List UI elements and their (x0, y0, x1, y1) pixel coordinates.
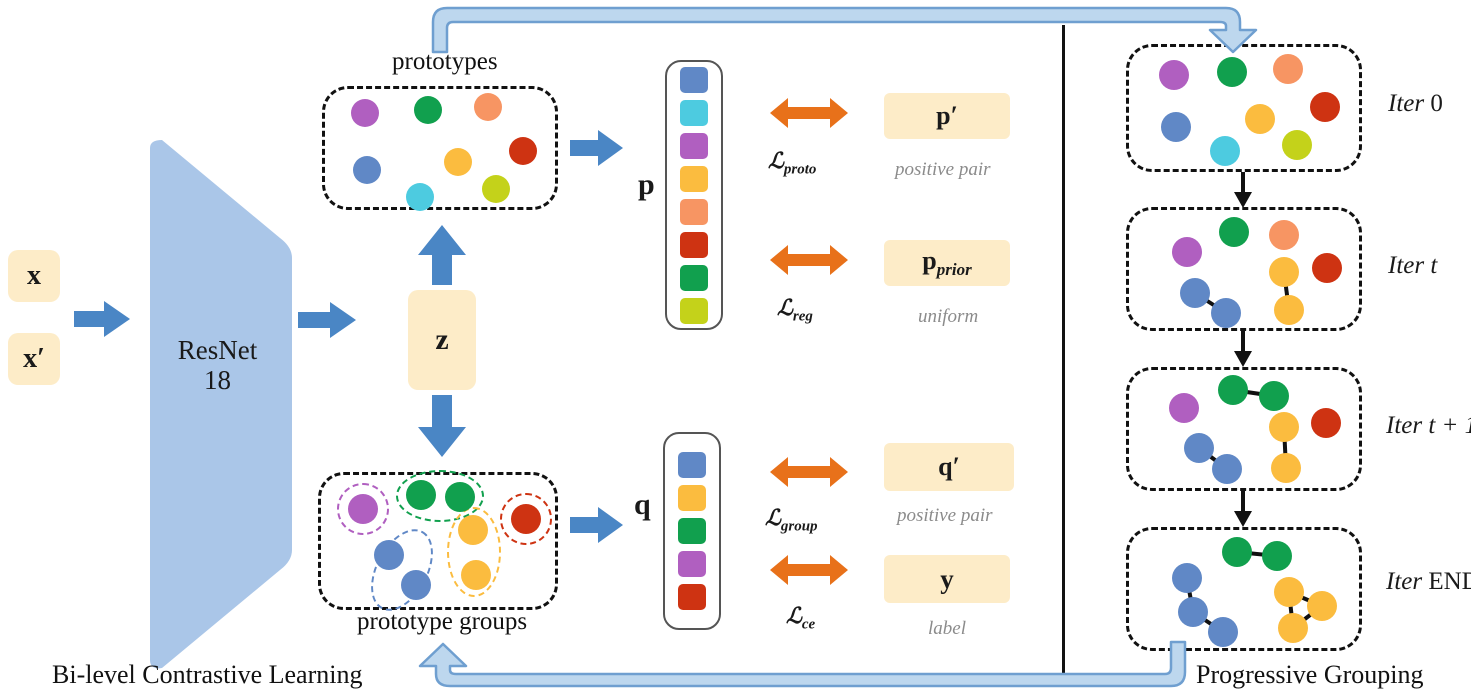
loss-group-sub: group (781, 518, 818, 534)
encoder-resnet18: ResNet 18 (140, 140, 295, 670)
group-ring-blue (358, 519, 445, 621)
iter-0-box (1126, 44, 1362, 172)
prototype-dot-purple (351, 99, 379, 127)
loss-proto-arrow (770, 96, 848, 130)
prototypes-box (322, 86, 558, 210)
loss-proto-target: p′ (936, 101, 958, 131)
loss-group-symbol: ℒ (765, 505, 781, 530)
loss-proto-target-box: p′ (884, 93, 1010, 139)
loss-group-target-box: q′ (884, 443, 1014, 491)
group-dot-blue-2 (401, 570, 431, 600)
loss-group-arrow (770, 455, 848, 489)
iter-t-plus-1-dot (1169, 393, 1199, 423)
loss-reg-target-box: pprior (884, 240, 1010, 286)
iter-t-plus-1-dot (1311, 408, 1341, 438)
iter-0-dot (1273, 54, 1303, 84)
feedback-arrow-bottom (400, 642, 1250, 698)
iter-0-label: Iter 0 (1388, 90, 1443, 118)
iter-end-box (1126, 527, 1362, 651)
iter-t-dot (1312, 253, 1342, 283)
iter-end-dot (1222, 537, 1252, 567)
iter-t-plus-1-label: Iter t + 1 (1386, 412, 1471, 440)
loss-group-target: q′ (938, 452, 960, 482)
iter-t-label: Iter t (1388, 252, 1437, 280)
q-vector-name: q (634, 488, 651, 522)
prototype-groups-box (318, 472, 558, 610)
iter-t-dot (1269, 257, 1299, 287)
iter-end-dot (1178, 597, 1208, 627)
iter-end-dot (1262, 541, 1292, 571)
prototype-groups-dot-field (321, 475, 561, 613)
q-cell-purple (678, 551, 706, 577)
group-dot-yellow-2 (461, 560, 491, 590)
arrow-z-to-prototypes (412, 225, 472, 287)
loss-ce-symbol: ℒ (786, 603, 802, 628)
iter-end-dot (1278, 613, 1308, 643)
group-dot-green-1 (406, 480, 436, 510)
loss-reg-note: uniform (918, 306, 978, 328)
arrow-z-to-groups (412, 395, 472, 457)
arrow-iter-0-to-t (1230, 172, 1256, 208)
prototype-dot-salmon (474, 93, 502, 121)
iter-0-dot (1310, 92, 1340, 122)
left-panel-caption: Bi-level Contrastive Learning (52, 660, 362, 690)
iter-t-dot (1180, 278, 1210, 308)
loss-reg-target: pprior (922, 246, 971, 280)
q-cell-blue (678, 452, 706, 478)
iter-t-plus-1-dot (1271, 453, 1301, 483)
iter-t-dot (1269, 220, 1299, 250)
iter-t-plus-1-dot (1269, 412, 1299, 442)
loss-ce-arrow (770, 553, 848, 587)
prototype-dot-blue (353, 156, 381, 184)
iter-t-plus-1-dot (1212, 454, 1242, 484)
loss-proto-symbol: ℒ (768, 148, 784, 173)
iter-0-dot (1159, 60, 1189, 90)
iter-t-dot (1172, 237, 1202, 267)
loss-ce-target: y (940, 564, 954, 595)
p-cell-yellowgreen (680, 298, 708, 324)
arrow-input-to-encoder (74, 299, 134, 339)
latent-box-z: z (408, 290, 476, 390)
loss-reg-sub: reg (793, 308, 813, 324)
panel-divider (1062, 25, 1065, 675)
prototype-dot-yellowgreen (482, 175, 510, 203)
p-cell-cyan (680, 100, 708, 126)
q-vector-column (663, 432, 721, 630)
loss-ce-note: label (928, 618, 966, 640)
prototype-groups-title: prototype groups (357, 608, 527, 636)
iter-t-dot-field (1129, 210, 1365, 334)
feedback-arrow-top (420, 0, 1270, 55)
loss-ce-target-box: y (884, 555, 1010, 603)
arrow-iter-t1-to-end (1230, 491, 1256, 527)
group-dot-yellow-1 (458, 515, 488, 545)
iter-t-plus-1-dot-field (1129, 370, 1365, 494)
prototype-dot-red (509, 137, 537, 165)
input-x-label: x (27, 260, 41, 292)
iter-t-plus-1-box (1126, 367, 1362, 491)
p-cell-yellow (680, 166, 708, 192)
p-cell-salmon (680, 199, 708, 225)
p-cell-purple (680, 133, 708, 159)
group-dot-purple (348, 494, 378, 524)
iter-t-box (1126, 207, 1362, 331)
p-vector-column (665, 60, 723, 330)
iter-0-dot (1245, 104, 1275, 134)
group-dot-green-2 (445, 482, 475, 512)
prototype-dot-cyan (406, 183, 434, 211)
loss-ce-sub: ce (802, 616, 815, 632)
p-vector-name: p (638, 168, 655, 202)
encoder-label: ResNet 18 (140, 335, 295, 395)
p-cell-blue (680, 67, 708, 93)
loss-proto-label: ℒproto (768, 148, 816, 178)
loss-ce-label: ℒce (786, 603, 815, 633)
arrow-iter-t-to-t1 (1230, 331, 1256, 367)
arrow-encoder-to-z (298, 300, 360, 340)
arrow-prototypes-to-p (570, 128, 626, 168)
input-box-x-aug: x′ (8, 333, 60, 385)
latent-z-label: z (435, 323, 448, 357)
iter-0-dot (1217, 57, 1247, 87)
loss-reg-arrow (770, 243, 848, 277)
loss-proto-sub: proto (784, 161, 817, 177)
encoder-label-line2: 18 (140, 365, 295, 395)
right-panel-caption: Progressive Grouping (1196, 660, 1423, 690)
iter-0-dot (1282, 130, 1312, 160)
prototype-dot-green (414, 96, 442, 124)
iter-end-dot (1172, 563, 1202, 593)
p-cell-green (680, 265, 708, 291)
group-dot-red (511, 504, 541, 534)
loss-proto-note: positive pair (895, 159, 991, 181)
prototypes-dot-field (325, 89, 561, 213)
iter-t-plus-1-dot (1259, 381, 1289, 411)
q-cell-red (678, 584, 706, 610)
group-dot-blue-1 (374, 540, 404, 570)
iter-end-label: Iter END (1386, 568, 1471, 596)
q-cell-yellow (678, 485, 706, 511)
iter-end-dot (1274, 577, 1304, 607)
iter-end-dot (1307, 591, 1337, 621)
q-cell-green (678, 518, 706, 544)
iter-0-dot (1161, 112, 1191, 142)
input-x-aug-label: x′ (23, 343, 45, 375)
iter-t-dot (1211, 298, 1241, 328)
iter-0-dot-field (1129, 47, 1365, 175)
encoder-label-line1: ResNet (140, 335, 295, 365)
iter-0-dot (1210, 136, 1240, 166)
prototype-dot-yellow (444, 148, 472, 176)
loss-group-note: positive pair (897, 505, 993, 527)
iter-end-dot-field (1129, 530, 1365, 654)
iter-t-plus-1-dot (1184, 433, 1214, 463)
iter-t-plus-1-dot (1218, 375, 1248, 405)
input-box-x: x (8, 250, 60, 302)
iter-t-dot (1219, 217, 1249, 247)
arrow-groups-to-q (570, 505, 626, 545)
p-cell-red (680, 232, 708, 258)
loss-reg-label: ℒreg (777, 295, 813, 325)
loss-group-label: ℒgroup (765, 505, 818, 535)
loss-reg-symbol: ℒ (777, 295, 793, 320)
iter-t-dot (1274, 295, 1304, 325)
